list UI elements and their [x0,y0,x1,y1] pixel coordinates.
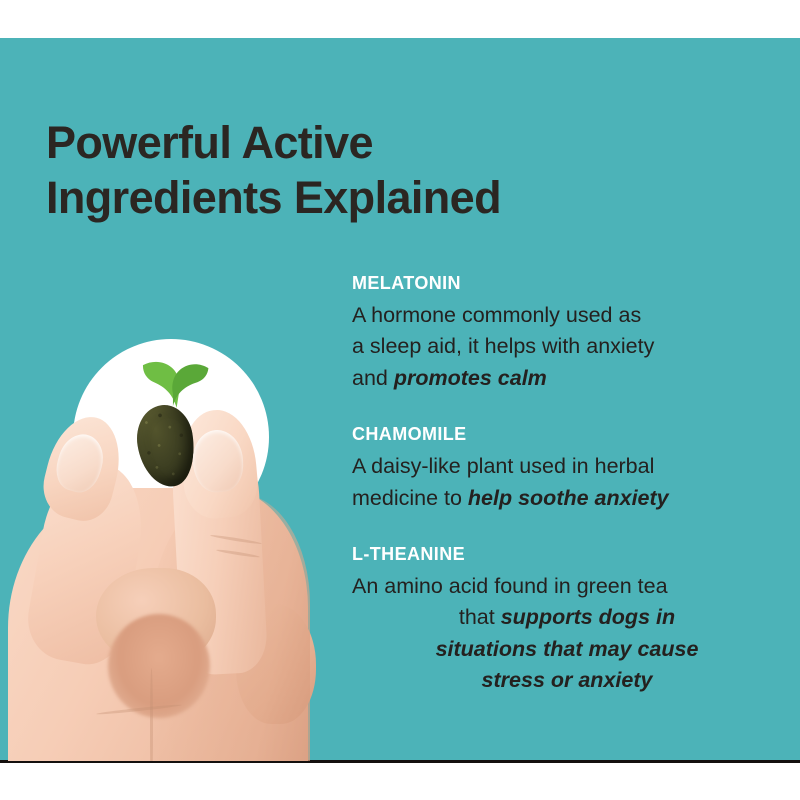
ingredient-line: A daisy-like plant used in herbal [352,451,782,482]
headline-line-1: Powerful Active [46,116,686,171]
ingredient-title: L-THEANINE [352,544,782,565]
ingredient-line: stress or anxiety [352,665,782,696]
ingredient-title: CHAMOMILE [352,424,782,445]
ingredient-line: and promotes calm [352,363,782,394]
leaf-icon [140,355,212,415]
ingredient-line: that supports dogs in [352,602,782,633]
ingredient-l-theanine: L-THEANINE An amino acid found in green … [352,544,782,697]
ingredient-description: A daisy-like plant used in herbal medici… [352,451,782,514]
ingredient-line: medicine to help soothe anxiety [352,483,782,514]
ingredient-line: situations that may cause [352,634,782,665]
ingredient-description: A hormone commonly used as a sleep aid, … [352,300,782,394]
page-title: Powerful Active Ingredients Explained [46,116,686,226]
teal-panel: Powerful Active Ingredients Explained [0,38,800,761]
infographic-page: Powerful Active Ingredients Explained [0,0,800,800]
ingredient-melatonin: MELATONIN A hormone commonly used as a s… [352,273,782,394]
ingredient-line: A hormone commonly used as [352,300,782,331]
ingredient-description: An amino acid found in green tea that su… [352,571,782,697]
product-illustration [0,238,350,761]
ingredient-line: a sleep aid, it helps with anxiety [352,331,782,362]
ingredient-title: MELATONIN [352,273,782,294]
ingredient-line: An amino acid found in green tea [352,571,782,602]
ingredient-chamomile: CHAMOMILE A daisy-like plant used in her… [352,424,782,514]
ingredient-list: MELATONIN A hormone commonly used as a s… [352,273,782,696]
headline-line-2: Ingredients Explained [46,171,686,226]
hand-hollow-shadow [108,614,210,718]
